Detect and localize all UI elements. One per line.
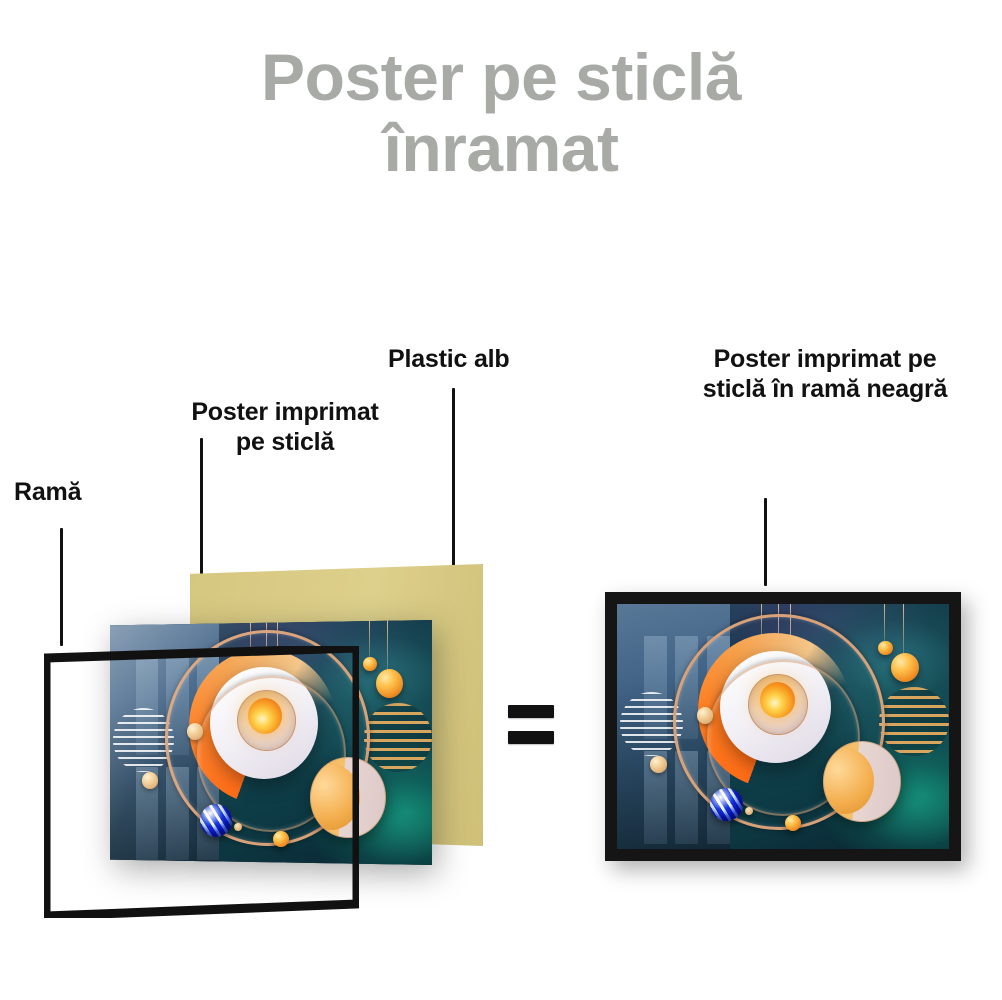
equals-sign [508, 705, 554, 744]
leader-line-frame [60, 528, 63, 646]
leader-line-white-plastic [452, 388, 455, 566]
framed-poster-result [605, 592, 961, 861]
page-title: Poster pe sticlă înramat [0, 42, 1002, 185]
leader-line-result [764, 498, 767, 586]
label-white-plastic: Plastic alb [388, 345, 509, 375]
label-frame: Ramă [14, 478, 81, 508]
artwork-framed [617, 604, 949, 849]
label-glass-poster: Poster imprimat pe sticlă [160, 398, 410, 457]
infographic-stage: Poster pe sticlă înramat Ramă Poster imp… [0, 0, 1002, 1000]
label-result: Poster imprimat pe sticlă în ramă neagră [660, 345, 990, 404]
black-frame-outline [44, 646, 359, 918]
